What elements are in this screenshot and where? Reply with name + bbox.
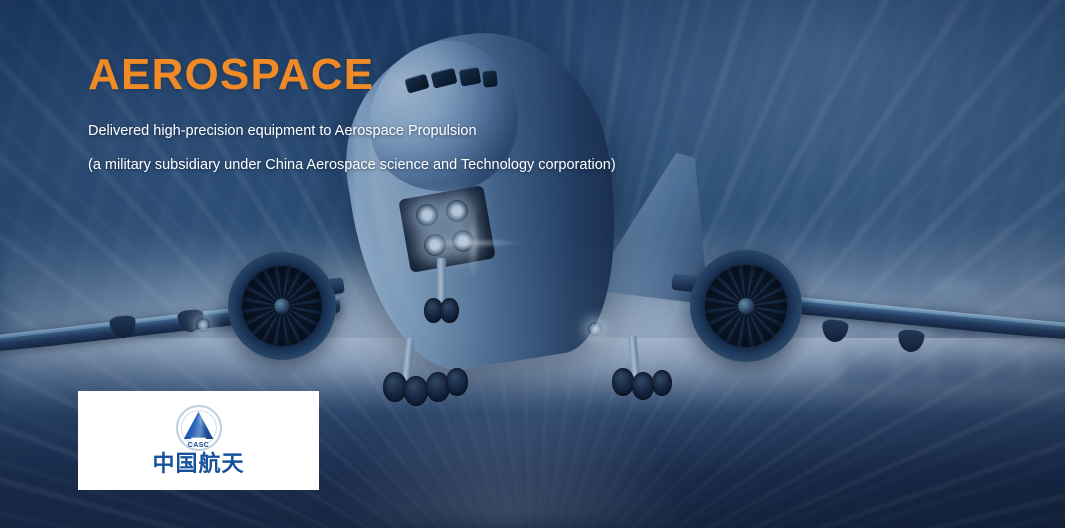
page-title: AEROSPACE — [88, 52, 616, 98]
casc-emblem-icon: CASC — [176, 405, 222, 451]
main-gear-wheel — [612, 368, 634, 396]
aerospace-hero-banner: AEROSPACE Delivered high-precision equip… — [0, 0, 1065, 528]
jet-engine-icon — [228, 252, 336, 360]
jet-engine-icon — [690, 250, 802, 362]
main-gear-wheel — [404, 376, 428, 406]
wing-light — [196, 318, 210, 332]
banner-subline-1: Delivered high-precision equipment to Ae… — [88, 122, 616, 142]
main-gear-wheel — [632, 372, 654, 400]
nose-gear-wheel — [440, 298, 459, 323]
main-gear-wheel — [652, 370, 672, 396]
main-gear-strut — [402, 338, 414, 381]
landing-light — [446, 200, 468, 222]
wing-light — [588, 322, 602, 336]
nose-gear-bay — [398, 185, 496, 273]
landing-light — [452, 230, 474, 252]
banner-copy: AEROSPACE Delivered high-precision equip… — [88, 52, 616, 175]
casc-acronym: CASC — [188, 442, 209, 449]
flap-fairing — [821, 319, 849, 343]
main-gear-wheel — [446, 368, 468, 396]
landing-light — [416, 204, 438, 226]
casc-logo-card: CASC 中国航天 — [78, 391, 319, 490]
landing-light — [424, 234, 446, 256]
casc-chinese-name: 中国航天 — [152, 454, 244, 476]
banner-subline-2: (a military subsidiary under China Aeros… — [88, 156, 616, 176]
engine-spinner — [738, 298, 754, 314]
flap-fairing — [897, 329, 925, 353]
